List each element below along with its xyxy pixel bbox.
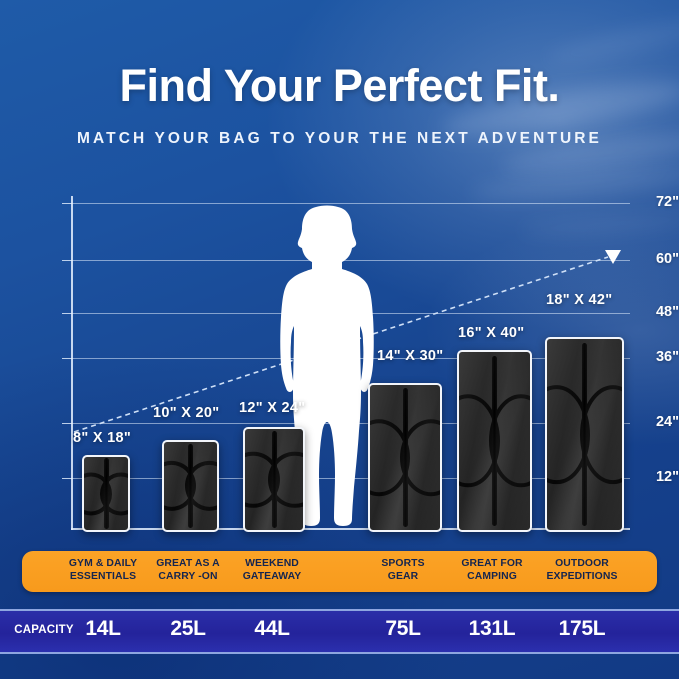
- y-axis-tick: [62, 423, 72, 424]
- bag-sheen: [547, 339, 622, 530]
- y-axis-label: 36": [625, 349, 679, 365]
- bag-sheen: [84, 457, 128, 530]
- gridline: [72, 203, 630, 204]
- y-axis-tick: [62, 358, 72, 359]
- capacity-value: 25L: [143, 617, 233, 641]
- y-axis-tick: [62, 203, 72, 204]
- bag-bar[interactable]: [243, 427, 305, 532]
- bag-dimension-label: 14" X 30": [377, 348, 443, 364]
- bag-bar[interactable]: [457, 350, 532, 532]
- use-case-line-2: EXPEDITIONS: [522, 571, 642, 584]
- bag-sheen: [164, 442, 217, 530]
- bag-bar[interactable]: [162, 440, 219, 532]
- infographic-canvas: Find Your Perfect Fit. MATCH YOUR BAG TO…: [0, 0, 679, 679]
- y-axis-line: [71, 196, 73, 530]
- y-axis-label: 24": [625, 414, 679, 430]
- y-axis-tick: [62, 478, 72, 479]
- y-axis-tick: [62, 313, 72, 314]
- use-case-cell: WEEKENDGATEAWAY: [212, 558, 332, 583]
- bag-sheen: [245, 429, 303, 530]
- bag-dimension-label: 16" X 40": [458, 325, 524, 341]
- y-axis-tick: [62, 260, 72, 261]
- capacity-value: 131L: [447, 617, 537, 641]
- bag-dimension-label: 12" X 24": [239, 400, 305, 416]
- use-case-cell: OUTDOOREXPEDITIONS: [522, 558, 642, 583]
- bag-sheen: [370, 385, 440, 530]
- use-case-band: GYM & DAILYESSENTIALSGREAT AS ACARRY -ON…: [22, 551, 657, 592]
- y-axis-label: 72": [625, 194, 679, 210]
- capacity-value: 75L: [358, 617, 448, 641]
- use-case-line-2: GATEAWAY: [212, 571, 332, 584]
- y-axis-label: 12": [625, 469, 679, 485]
- y-axis-label: 48": [625, 304, 679, 320]
- bag-sheen: [459, 352, 530, 530]
- capacity-band: CAPACITY 14L25L44L75L131L175L: [0, 609, 679, 654]
- capacity-value: 175L: [537, 617, 627, 641]
- bag-bar[interactable]: [82, 455, 130, 532]
- bag-bar[interactable]: [545, 337, 624, 532]
- use-case-line-1: OUTDOOR: [522, 558, 642, 571]
- capacity-value: 14L: [58, 617, 148, 641]
- use-case-line-1: WEEKEND: [212, 558, 332, 571]
- bag-dimension-label: 10" X 20": [153, 405, 219, 421]
- bag-dimension-label: 8" X 18": [73, 430, 131, 446]
- bag-bar[interactable]: [368, 383, 442, 532]
- y-axis-label: 60": [625, 251, 679, 267]
- bag-dimension-label: 18" X 42": [546, 292, 612, 308]
- capacity-value: 44L: [227, 617, 317, 641]
